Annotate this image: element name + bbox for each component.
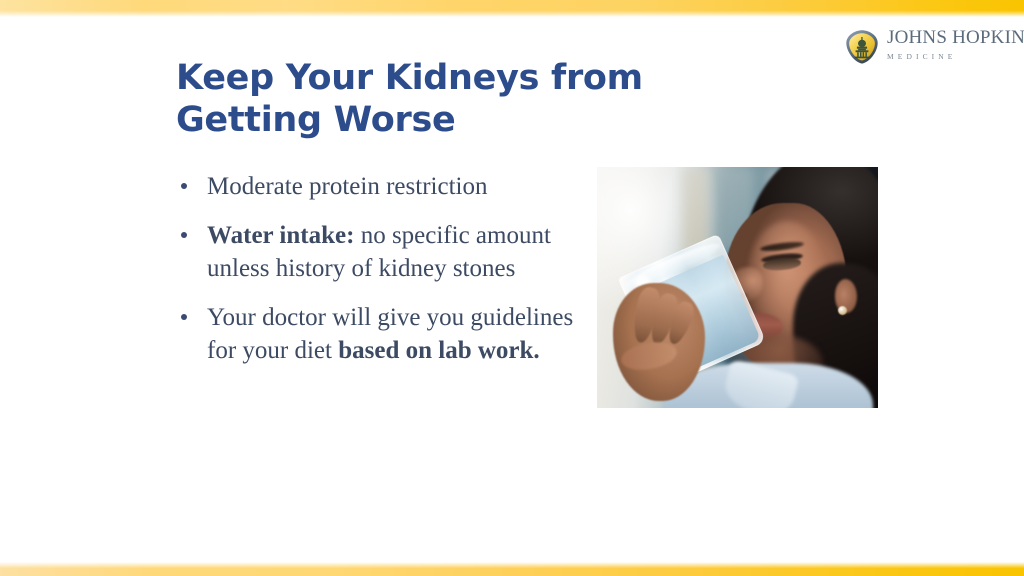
- logo-subtitle: MEDICINE: [887, 52, 1007, 61]
- bullet-2-lead: Water intake:: [207, 222, 354, 249]
- slide-canvas: JOHNS HOPKINS MEDICINE Keep Your Kidneys…: [0, 0, 1024, 576]
- photo-artwork: [597, 167, 878, 408]
- bullet-dot-icon: [181, 183, 187, 189]
- title-line-1: Keep Your Kidneys from: [176, 57, 736, 99]
- title-line-2: Getting Worse: [176, 99, 736, 141]
- johns-hopkins-medicine-logo: JOHNS HOPKINS MEDICINE: [843, 26, 1005, 70]
- list-item: Your doctor will give you guidelines for…: [176, 301, 576, 367]
- logo-name: JOHNS HOPKINS: [887, 27, 1007, 49]
- johns-hopkins-shield-dome-icon: [843, 28, 881, 66]
- logo-wordmark: JOHNS HOPKINS MEDICINE: [887, 27, 1007, 61]
- bullet-list: Moderate protein restriction Water intak…: [176, 170, 576, 367]
- photo-earring: [838, 306, 847, 315]
- bullet-1-text: Moderate protein restriction: [207, 173, 487, 200]
- bullet-3-trail: based on lab work.: [338, 337, 539, 364]
- bottom-gold-band: [0, 562, 1024, 576]
- bullet-dot-icon: [181, 232, 187, 238]
- list-item: Moderate protein restriction: [176, 170, 576, 203]
- drinking-water-photo: [597, 167, 878, 408]
- top-gold-band: [0, 0, 1024, 17]
- list-item: Water intake: no specific amount unless …: [176, 219, 576, 285]
- bullet-dot-icon: [181, 314, 187, 320]
- slide-title: Keep Your Kidneys from Getting Worse: [176, 57, 736, 141]
